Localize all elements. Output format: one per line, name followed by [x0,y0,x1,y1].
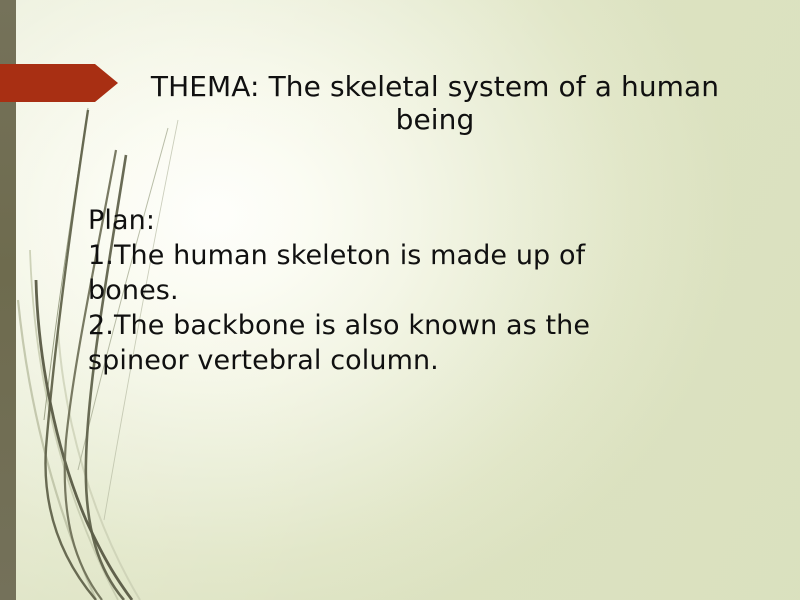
body-line-plan-heading: Plan: [88,203,688,238]
arrow-shape [0,64,118,102]
body-line-item-2b: spineor vertebral column. [88,343,688,378]
body-line-item-2a: 2.The backbone is also known as the [88,308,688,343]
slide-title: THEMA: The skeletal system of a human be… [128,70,742,136]
presentation-slide: THEMA: The skeletal system of a human be… [0,0,800,600]
body-line-item-1b: bones. [88,273,688,308]
body-line-item-1a: 1.The human skeleton is made up of [88,238,688,273]
title-line-1: THEMA: The skeletal system of a human [128,70,742,103]
title-line-2: being [128,103,742,136]
right-arrow-banner [0,64,118,102]
slide-body: Plan: 1.The human skeleton is made up of… [88,203,688,378]
